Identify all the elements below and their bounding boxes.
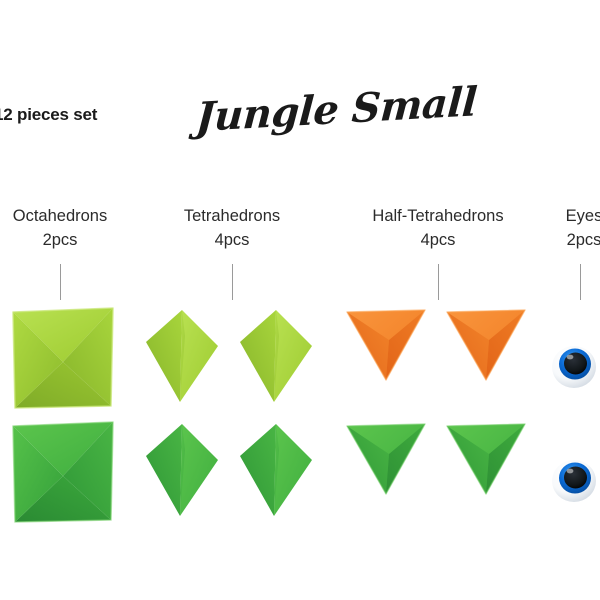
column-name-half-tetrahedrons: Half-Tetrahedrons	[372, 207, 503, 225]
column-quantity-eyes: 2pcs	[566, 228, 600, 252]
eye-piece-2	[550, 458, 598, 504]
column-name-octahedrons: Octahedrons	[13, 207, 107, 225]
octahedron-green	[11, 420, 115, 524]
page-title: Jungle Small	[194, 78, 478, 141]
connector-line-octahedrons	[60, 264, 61, 300]
column-quantity-tetrahedrons: 4pcs	[184, 228, 280, 252]
half-tetrahedron-orange-2	[445, 306, 527, 382]
tetrahedron-green-1	[144, 420, 220, 520]
column-label-half-tetrahedrons: Half-Tetrahedrons 4pcs	[372, 204, 503, 252]
tetrahedron-light-green-1	[144, 306, 220, 406]
column-label-eyes: Eyes 2pcs	[566, 204, 600, 252]
half-tetrahedron-green-1	[345, 420, 427, 496]
column-quantity-octahedrons: 2pcs	[13, 228, 107, 252]
octahedron-light-green	[11, 306, 115, 410]
column-name-tetrahedrons: Tetrahedrons	[184, 207, 280, 225]
half-tetrahedron-green-2	[445, 420, 527, 496]
connector-line-half-tetrahedrons	[438, 264, 439, 300]
column-label-octahedrons: Octahedrons 2pcs	[13, 204, 107, 252]
column-name-eyes: Eyes	[566, 207, 600, 225]
tetrahedron-light-green-2	[238, 306, 314, 406]
eye-piece-1	[550, 344, 598, 390]
connector-line-tetrahedrons	[232, 264, 233, 300]
half-tetrahedron-orange-1	[345, 306, 427, 382]
connector-line-eyes	[580, 264, 581, 300]
tetrahedron-green-2	[238, 420, 314, 520]
column-label-tetrahedrons: Tetrahedrons 4pcs	[184, 204, 280, 252]
column-quantity-half-tetrahedrons: 4pcs	[372, 228, 503, 252]
pieces-count-label: 12 pieces set	[0, 105, 97, 125]
